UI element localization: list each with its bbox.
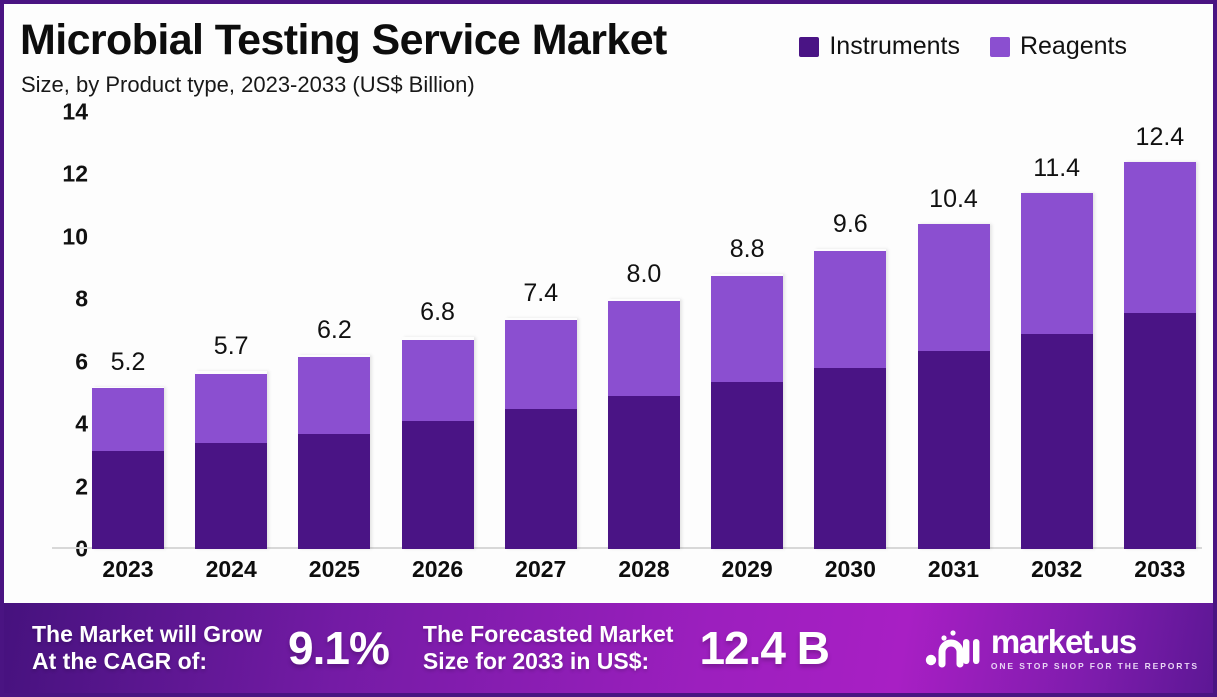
bar-segment-instruments[interactable] [92,451,164,549]
bar-segment-reagents[interactable] [298,357,370,433]
bar-segment-reagents[interactable] [505,320,577,409]
bar-segment-reagents[interactable] [1124,162,1196,313]
bar-segment-instruments[interactable] [298,434,370,549]
bar-group-2027[interactable]: 7.42027 [505,112,577,549]
y-axis-tick-label: 10 [62,223,88,250]
bar-group-2026[interactable]: 6.82026 [402,112,474,549]
x-axis-tick-label: 2025 [309,556,360,583]
bar-segment-instruments[interactable] [402,421,474,549]
legend-label: Instruments [829,32,960,61]
x-axis-tick-label: 2032 [1031,556,1082,583]
bar-series-container: 5.220235.720246.220256.820267.420278.020… [92,112,1196,549]
bar-group-2023[interactable]: 5.22023 [92,112,164,549]
y-axis-tick-label: 0 [75,536,88,563]
bar-stack[interactable] [505,318,577,549]
bar-segment-reagents[interactable] [1021,193,1093,333]
cagr-value: 9.1% [288,621,389,675]
x-axis-tick-label: 2027 [515,556,566,583]
y-axis-tick-label: 8 [75,286,88,313]
bar-value-label: 8.0 [627,260,662,289]
bar-group-2025[interactable]: 6.22025 [298,112,370,549]
forecast-label: The Forecasted Market Size for 2033 in U… [423,621,674,675]
bar-value-label: 5.2 [111,348,146,377]
bar-group-2033[interactable]: 12.42033 [1124,112,1196,549]
legend-swatch-instruments-icon [799,37,819,57]
chart-header: Microbial Testing Service Market Size, b… [4,4,1213,104]
x-axis-tick-label: 2028 [618,556,669,583]
bar-segment-reagents[interactable] [608,301,680,396]
bar-segment-instruments[interactable] [814,368,886,549]
cagr-block: The Market will Grow At the CAGR of: 9.1… [32,621,389,675]
bar-segment-reagents[interactable] [92,388,164,450]
page-title: Microbial Testing Service Market [20,16,667,65]
y-axis-tick-label: 6 [75,348,88,375]
bar-group-2029[interactable]: 8.82029 [711,112,783,549]
bar-stack[interactable] [711,274,783,549]
bar-stack[interactable] [402,337,474,549]
cagr-label-line-1: The Market will Grow [32,621,262,648]
cagr-label-line-2: At the CAGR of: [32,648,262,675]
bar-stack[interactable] [814,249,886,549]
y-axis-tick-label: 2 [75,473,88,500]
bar-segment-instruments[interactable] [505,409,577,549]
bar-group-2032[interactable]: 11.42032 [1021,112,1093,549]
x-axis-tick-label: 2030 [825,556,876,583]
x-axis-tick-label: 2026 [412,556,463,583]
bar-group-2024[interactable]: 5.72024 [195,112,267,549]
x-axis-tick-label: 2031 [928,556,979,583]
bar-segment-reagents[interactable] [402,340,474,421]
bottom-summary-banner: The Market will Grow At the CAGR of: 9.1… [4,603,1213,693]
bar-segment-instruments[interactable] [195,443,267,549]
logo-wordmark: market.us [991,625,1199,658]
x-axis-tick-label: 2033 [1134,556,1185,583]
bar-stack[interactable] [1021,193,1093,549]
bar-group-2028[interactable]: 8.02028 [608,112,680,549]
bar-group-2030[interactable]: 9.62030 [814,112,886,549]
chart-legend: InstrumentsReagents [799,32,1127,61]
market-us-logo-text: market.us ONE STOP SHOP FOR THE REPORTS [991,625,1199,671]
bar-segment-reagents[interactable] [814,251,886,368]
chart-subtitle: Size, by Product type, 2023-2033 (US$ Bi… [21,72,475,98]
bar-value-label: 7.4 [523,279,558,308]
bar-stack[interactable] [195,371,267,549]
bar-stack[interactable] [298,355,370,549]
bar-value-label: 12.4 [1136,123,1185,152]
bar-segment-reagents[interactable] [711,276,783,382]
bar-group-2031[interactable]: 10.42031 [918,112,990,549]
legend-swatch-reagents-icon [990,37,1010,57]
bar-stack[interactable] [92,387,164,549]
bar-value-label: 10.4 [929,185,978,214]
bar-value-label: 6.8 [420,298,455,327]
market-us-logo[interactable]: market.us ONE STOP SHOP FOR THE REPORTS [924,625,1199,671]
bar-segment-instruments[interactable] [918,351,990,549]
cagr-label: The Market will Grow At the CAGR of: [32,621,262,675]
bar-stack[interactable] [608,299,680,549]
y-axis-tick-label: 4 [75,411,88,438]
bar-value-label: 9.6 [833,210,868,239]
bar-stack[interactable] [1124,162,1196,549]
bar-value-label: 5.7 [214,332,249,361]
infographic-root: Microbial Testing Service Market Size, b… [0,0,1217,697]
x-axis-tick-label: 2024 [206,556,257,583]
y-axis: 02468101214 [34,112,88,549]
x-axis-tick-label: 2029 [722,556,773,583]
bar-segment-instruments[interactable] [711,382,783,549]
legend-item-instruments[interactable]: Instruments [799,32,960,61]
bar-segment-instruments[interactable] [608,396,680,549]
bar-segment-instruments[interactable] [1021,334,1093,549]
market-us-logo-mark-icon [924,626,982,670]
bar-value-label: 8.8 [730,235,765,264]
chart-plot-area: 02468101214 5.220235.720246.220256.82026… [92,112,1196,549]
x-axis-tick-label: 2023 [102,556,153,583]
bar-value-label: 11.4 [1033,154,1080,183]
forecast-label-line-1: The Forecasted Market [423,621,674,648]
forecast-label-line-2: Size for 2033 in US$: [423,648,674,675]
bar-segment-instruments[interactable] [1124,313,1196,549]
y-axis-tick-label: 12 [62,161,88,188]
bar-segment-reagents[interactable] [918,224,990,350]
forecast-block: The Forecasted Market Size for 2033 in U… [423,621,829,675]
bar-stack[interactable] [918,224,990,549]
bar-value-label: 6.2 [317,316,352,345]
legend-label: Reagents [1020,32,1127,61]
bar-segment-reagents[interactable] [195,374,267,443]
logo-tagline: ONE STOP SHOP FOR THE REPORTS [991,661,1199,671]
y-axis-tick-label: 14 [62,99,88,126]
forecast-value: 12.4 B [699,621,829,675]
legend-item-reagents[interactable]: Reagents [990,32,1127,61]
